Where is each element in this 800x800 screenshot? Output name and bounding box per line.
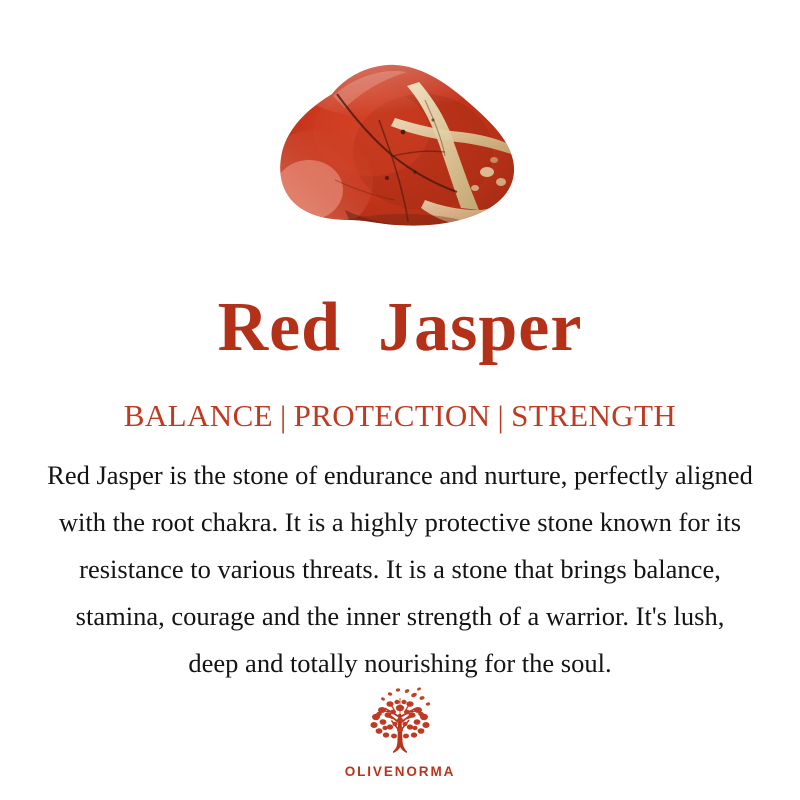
description-line: Red Jasper is the stone of endurance and… bbox=[12, 452, 788, 499]
red-jasper-stone-icon bbox=[275, 60, 525, 245]
red-jasper-info-card: Red Jasper BALANCE|PROTECTION|STRENGTH R… bbox=[0, 0, 800, 800]
keyword-strength: STRENGTH bbox=[511, 398, 676, 433]
description-paragraph: Red Jasper is the stone of endurance and… bbox=[12, 452, 788, 687]
description-line: with the root chakra. It is a highly pro… bbox=[12, 499, 788, 546]
description-line: deep and totally nourishing for the soul… bbox=[12, 640, 788, 687]
keyword-protection: PROTECTION bbox=[294, 398, 491, 433]
brand-wordmark: OLIVENORMA bbox=[345, 764, 456, 780]
stone-image bbox=[0, 52, 800, 252]
keyword-separator-1: | bbox=[280, 397, 287, 437]
keyword-subtitle: BALANCE|PROTECTION|STRENGTH bbox=[0, 396, 800, 436]
keyword-separator-2: | bbox=[497, 397, 504, 437]
tree-of-life-icon bbox=[357, 684, 443, 760]
page-title: Red Jasper bbox=[0, 288, 800, 368]
description-line: stamina, courage and the inner strength … bbox=[12, 593, 788, 640]
description-line: resistance to various threats. It is a s… bbox=[12, 546, 788, 593]
brand-logo: OLIVENORMA bbox=[0, 684, 800, 780]
keyword-balance: BALANCE bbox=[124, 398, 273, 433]
